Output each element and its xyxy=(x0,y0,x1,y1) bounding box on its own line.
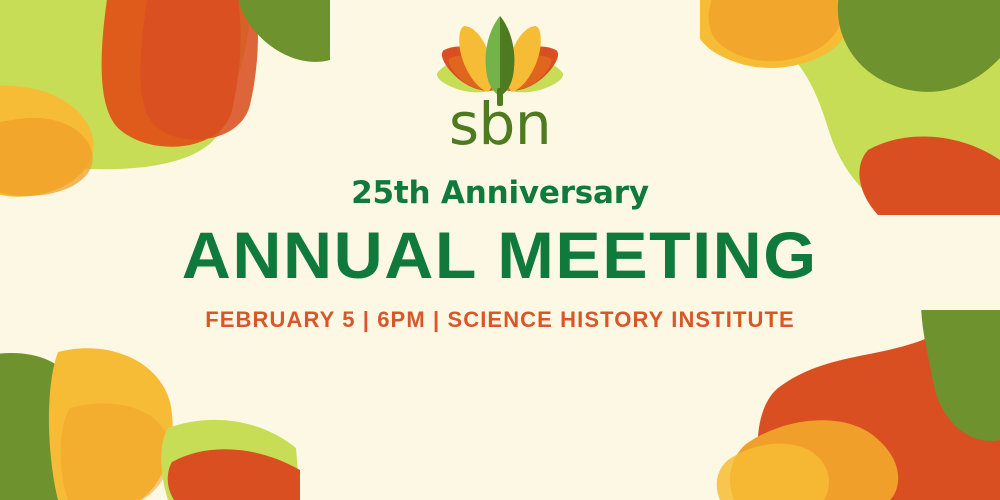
event-headline: ANNUAL MEETING xyxy=(182,217,818,293)
event-details: FEBRUARY 5 | 6PM | SCIENCE HISTORY INSTI… xyxy=(205,307,795,333)
poster-content: sbn 25th Anniversary ANNUAL MEETING FEBR… xyxy=(0,0,1000,500)
brand-wordmark: sbn xyxy=(449,100,551,149)
event-poster: sbn 25th Anniversary ANNUAL MEETING FEBR… xyxy=(0,0,1000,500)
anniversary-kicker: 25th Anniversary xyxy=(351,175,649,211)
brand-logo: sbn xyxy=(436,14,564,149)
